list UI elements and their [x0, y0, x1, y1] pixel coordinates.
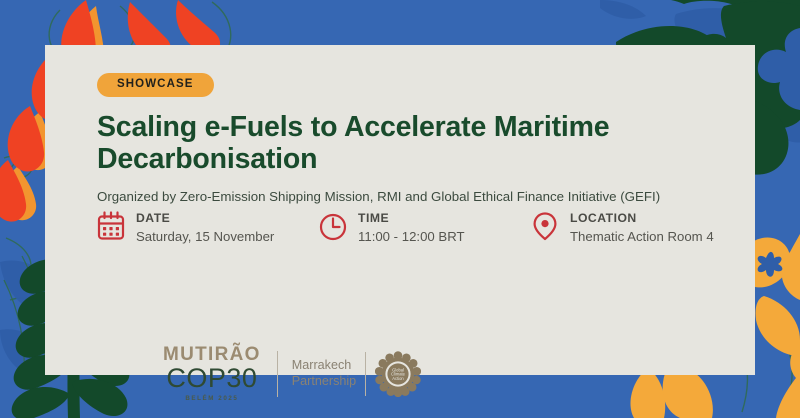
- event-poster: SHOWCASE Scaling e-Fuels to Accelerate M…: [0, 0, 800, 418]
- meta-label-location: LOCATION: [570, 211, 714, 226]
- calendar-icon: [97, 211, 125, 241]
- meta-value-time: 11:00 - 12:00 BRT: [358, 228, 465, 246]
- marrakech-partnership-text: Marrakech Partnership: [292, 358, 356, 389]
- meta-label-time: TIME: [358, 211, 465, 226]
- marrakech-line2: Partnership: [292, 374, 356, 390]
- cop30-mutirao-text: MUTIRÃO: [163, 345, 261, 364]
- meta-value-location: Thematic Action Room 4: [570, 228, 714, 246]
- cop30-logo: MUTIRÃO COP30 BELÉM 2025: [163, 345, 261, 402]
- event-organizer: Organized by Zero-Emission Shipping Miss…: [97, 188, 725, 205]
- meta-label-date: DATE: [136, 211, 274, 226]
- clock-icon: [319, 211, 347, 241]
- map-pin-icon: [531, 211, 559, 241]
- emblem-line3: Action: [392, 375, 404, 380]
- content-card: SHOWCASE Scaling e-Fuels to Accelerate M…: [45, 45, 755, 375]
- event-title: Scaling e-Fuels to Accelerate Maritime D…: [97, 111, 697, 176]
- card-header-block: SHOWCASE Scaling e-Fuels to Accelerate M…: [97, 73, 725, 206]
- meta-value-date: Saturday, 15 November: [136, 228, 274, 246]
- marrakech-partnership-logo: Marrakech Partnership: [277, 351, 421, 397]
- cop30-name-text: COP30: [166, 365, 257, 392]
- global-climate-action-emblem: Global Climate Action: [375, 351, 421, 397]
- meta-item-date: DATE Saturday, 15 November: [97, 210, 319, 246]
- meta-item-time: TIME 11:00 - 12:00 BRT: [319, 210, 531, 246]
- marrakech-line1: Marrakech: [292, 358, 356, 374]
- event-meta-row: DATE Saturday, 15 November TIME 11:00 - …: [97, 210, 725, 246]
- cop30-place-text: BELÉM 2025: [185, 396, 238, 402]
- meta-item-location: LOCATION Thematic Action Room 4: [531, 210, 725, 246]
- logo-divider: [365, 352, 366, 396]
- logo-row: MUTIRÃO COP30 BELÉM 2025 Marrakech Partn…: [163, 345, 421, 402]
- showcase-badge: SHOWCASE: [97, 73, 214, 97]
